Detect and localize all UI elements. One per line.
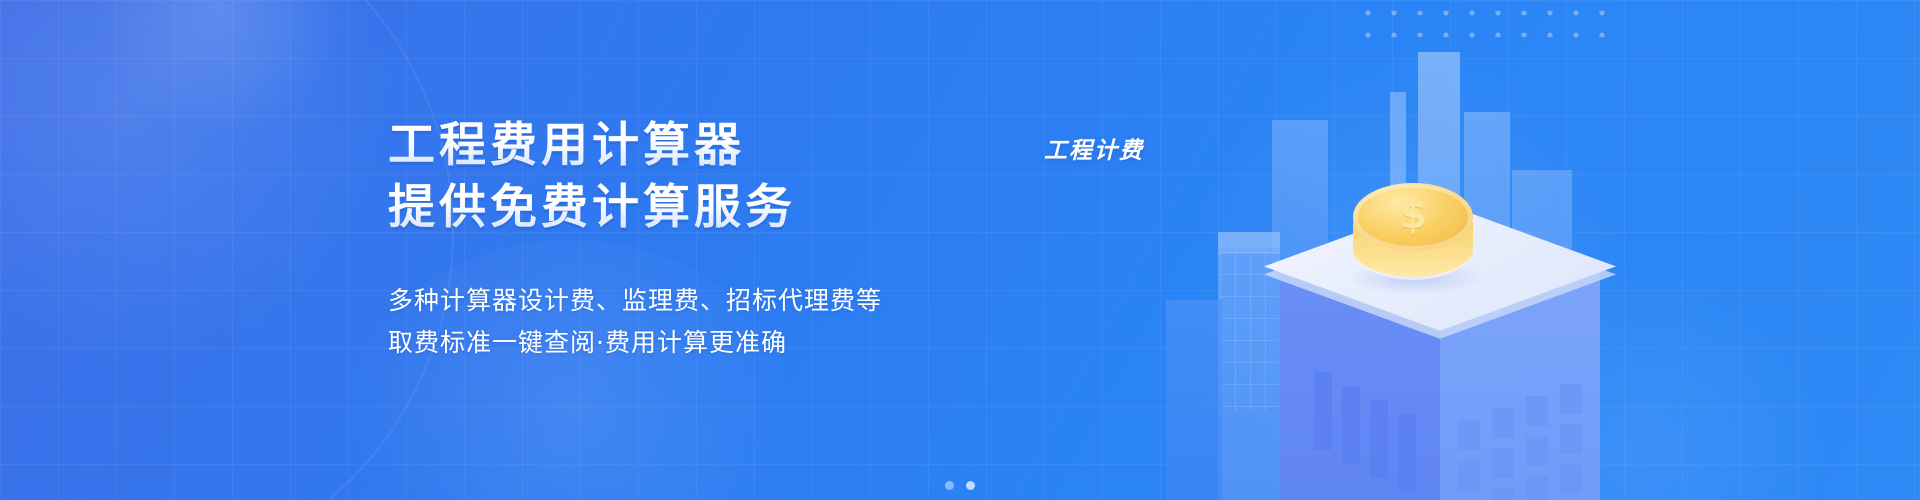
subtitle-block: 多种计算器设计费、监理费、招标代理费等 取费标准一键查阅·费用计算更准确 bbox=[388, 280, 1148, 364]
copy-block: 工程费用计算器 提供免费计算服务 多种计算器设计费、监理费、招标代理费等 取费标… bbox=[388, 118, 1148, 364]
building-window bbox=[1370, 400, 1388, 478]
coin-face-dollar-icon bbox=[1353, 183, 1473, 251]
illustration-scene bbox=[1100, 0, 1660, 500]
building-window bbox=[1560, 424, 1582, 454]
headline-line-1: 工程费用计算器 bbox=[388, 118, 1148, 174]
decorative-circle bbox=[0, 0, 454, 500]
building-window bbox=[1560, 384, 1582, 414]
building-window bbox=[1492, 448, 1514, 478]
building-window bbox=[1492, 408, 1514, 438]
headline-line-2: 提供免费计算服务 bbox=[388, 180, 1148, 236]
subtitle-line-1: 多种计算器设计费、监理费、招标代理费等 bbox=[388, 280, 1148, 322]
carousel-indicator[interactable] bbox=[0, 481, 1920, 490]
building-window bbox=[1342, 386, 1360, 464]
promo-banner: 工程计费 工程费用计算器 提供免费计算服务 多种计算器设计费、监理费、招标代理费… bbox=[0, 0, 1920, 500]
building-window bbox=[1526, 436, 1548, 466]
building-window bbox=[1526, 396, 1548, 426]
subtitle-line-2: 取费标准一键查阅·费用计算更准确 bbox=[388, 322, 1148, 364]
carousel-dot-2[interactable] bbox=[966, 481, 975, 490]
gold-coin-icon bbox=[1353, 183, 1473, 291]
building-window bbox=[1314, 372, 1332, 450]
carousel-dot-1[interactable] bbox=[945, 481, 954, 490]
building-window bbox=[1458, 420, 1480, 450]
skyline-tower-front bbox=[1166, 300, 1222, 500]
